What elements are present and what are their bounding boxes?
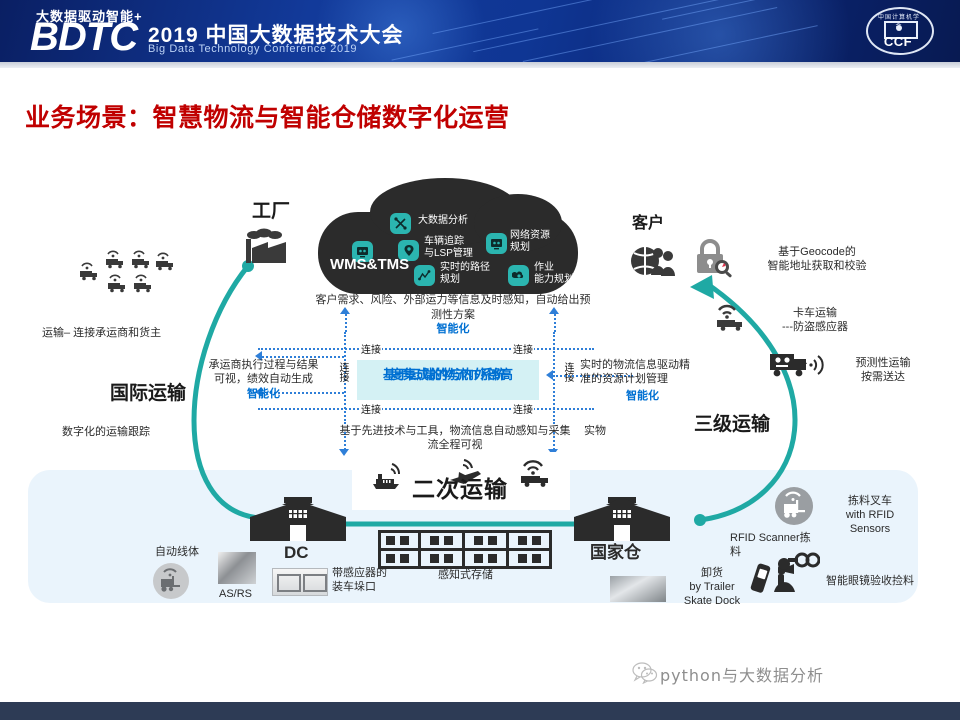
- dc-warehouse-icon: [248, 495, 348, 545]
- truck-wifi-icon: [518, 458, 554, 488]
- connect-label-top-right: 连接: [512, 341, 534, 356]
- footer-bar: [0, 702, 960, 720]
- cloud-item-label-1: 车辆追踪 与LSP管理: [424, 236, 473, 260]
- page-title: 业务场景：智慧物流与智能仓储数字化运营: [25, 98, 510, 134]
- predictive-note-line2: 按需送达: [828, 370, 938, 384]
- unload-line2: by Trailer: [672, 580, 752, 594]
- factory-label: 工厂: [252, 205, 290, 219]
- forklift-circle-icon: [152, 562, 190, 600]
- forklift-note-line2: with RFID: [820, 508, 920, 522]
- national-warehouse-label: 国家仓: [590, 546, 641, 560]
- ccf-logo-text: CCF: [866, 34, 930, 49]
- cloud-item-label-4: 作业 能力规划: [534, 262, 574, 286]
- geocode-note-line1: 基于Geocode的: [752, 245, 882, 259]
- tertiary-transport-title: 三级运输: [694, 418, 770, 432]
- slide-canvas: 大数据驱动智能+ BDTC 2019 中国大数据技术大会 Big Data Te…: [0, 0, 960, 720]
- bottom-note-line2: 流全程可视: [330, 438, 580, 452]
- truck-fleet-icon: [80, 250, 180, 298]
- truck-note-line2: ---防盗感应器: [760, 320, 870, 334]
- international-transport-title: 国际运输: [110, 387, 186, 401]
- wms-tms-label: WMS&TMS: [330, 256, 409, 273]
- banner-brand: BDTC: [30, 17, 137, 57]
- asrs-label: AS/RS: [219, 587, 252, 601]
- asrs-photo: [218, 552, 256, 584]
- auto-line-label: 自动线体: [155, 545, 199, 559]
- bottom-note-line1-tail: 实物: [584, 424, 606, 438]
- rfid-scanner-line2: 料: [730, 545, 741, 559]
- gear-cloud-icon: [508, 265, 529, 286]
- arc-node-national-warehouse: [694, 514, 706, 526]
- dock-label-line2: 装车垛口: [332, 580, 376, 594]
- predictive-truck-icon: [768, 350, 826, 384]
- geocode-note-line2: 智能地址获取和校验: [752, 259, 882, 273]
- factory-icon: [240, 228, 294, 268]
- ship-wifi-icon: [372, 462, 406, 490]
- ccf-logo: 中国计算机学会 CCF: [866, 7, 932, 53]
- conference-banner: 大数据驱动智能+ BDTC 2019 中国大数据技术大会 Big Data Te…: [0, 0, 960, 62]
- dc-label: DC: [284, 546, 309, 560]
- smart-glasses-icon: [770, 550, 820, 594]
- connect-line-right: [553, 332, 555, 424]
- rfid-scanner-line1: RFID Scanner拣: [730, 531, 811, 545]
- banner-conference-en: Big Data Technology Conference 2019: [148, 43, 357, 55]
- mid-transport-label: 二次运输: [412, 482, 508, 496]
- central-box-line2: 度集成的物流IT系统: [357, 366, 539, 383]
- storage-rack-icon: [378, 530, 552, 572]
- carrier-note-tag: 智能化: [186, 387, 341, 401]
- right-flow-arc: [640, 255, 870, 535]
- carrier-note-line2: 可视，绩效自动生成: [186, 372, 341, 386]
- customer-group-icon: [630, 243, 678, 279]
- fleet-caption: 运输– 连接承运商和货主: [42, 326, 161, 340]
- predictive-note-line1: 预测性运输: [828, 356, 938, 370]
- bottom-note-line1: 基于先进技术与工具，物流信息自动感知与采集: [330, 424, 580, 438]
- smart-glasses-label: 智能眼镜验收捡料: [826, 574, 914, 588]
- resource-note-line2: 准的资源计划管理: [580, 372, 740, 386]
- lock-search-icon: [692, 238, 738, 280]
- customer-label: 客户: [632, 217, 664, 231]
- unload-line1: 卸货: [672, 566, 752, 580]
- resource-note-tag: 智能化: [626, 389, 659, 403]
- connect-line-top: [258, 348, 594, 350]
- cloud-item-label-0: 大数据分析: [418, 215, 468, 227]
- wechat-icon: [632, 662, 658, 684]
- banner-divider: [0, 62, 960, 68]
- connect-label-bottom-left: 连接: [360, 401, 382, 416]
- watermark-text: python与大数据分析: [660, 662, 824, 686]
- sense-storage-label: 感知式存储: [438, 568, 493, 582]
- connect-label-top-left: 连接: [360, 341, 382, 356]
- connect-line-bottom: [258, 408, 594, 410]
- forklift-note-line3: Sensors: [820, 522, 920, 536]
- skate-dock-photo: [610, 576, 666, 602]
- connect-label-right-vertical: 连接: [559, 362, 576, 382]
- carrier-note-line1: 承运商执行过程与结果: [186, 358, 341, 372]
- cloud-caption-tag: 智能化: [312, 322, 594, 336]
- forklift-note-line1: 拣料叉车: [820, 494, 920, 508]
- dock-photo: [272, 568, 328, 596]
- central-it-system-box: 基于云端的与内外部高 度集成的物流IT系统: [357, 360, 539, 400]
- resource-note-line1: 实时的物流信息驱动精: [580, 358, 740, 372]
- route-chart-icon: [414, 265, 435, 286]
- analytics-icon: [390, 213, 411, 234]
- cloud-item-label-2: 网络资源 规划: [510, 230, 550, 254]
- rfid-forklift-circle-icon: [774, 486, 814, 526]
- cloud-item-label-3: 实时的路径 规划: [440, 262, 490, 286]
- national-warehouse-icon: [572, 495, 672, 545]
- international-transport-caption: 数字化的运输跟踪: [62, 425, 150, 439]
- truck-wifi-antitheft-icon: [714, 302, 748, 332]
- unload-line3: Skate Dock: [672, 594, 752, 608]
- connect-label-bottom-right: 连接: [512, 401, 534, 416]
- truck-note-line1: 卡车运输: [760, 306, 870, 320]
- network-monitor-icon: [486, 233, 507, 254]
